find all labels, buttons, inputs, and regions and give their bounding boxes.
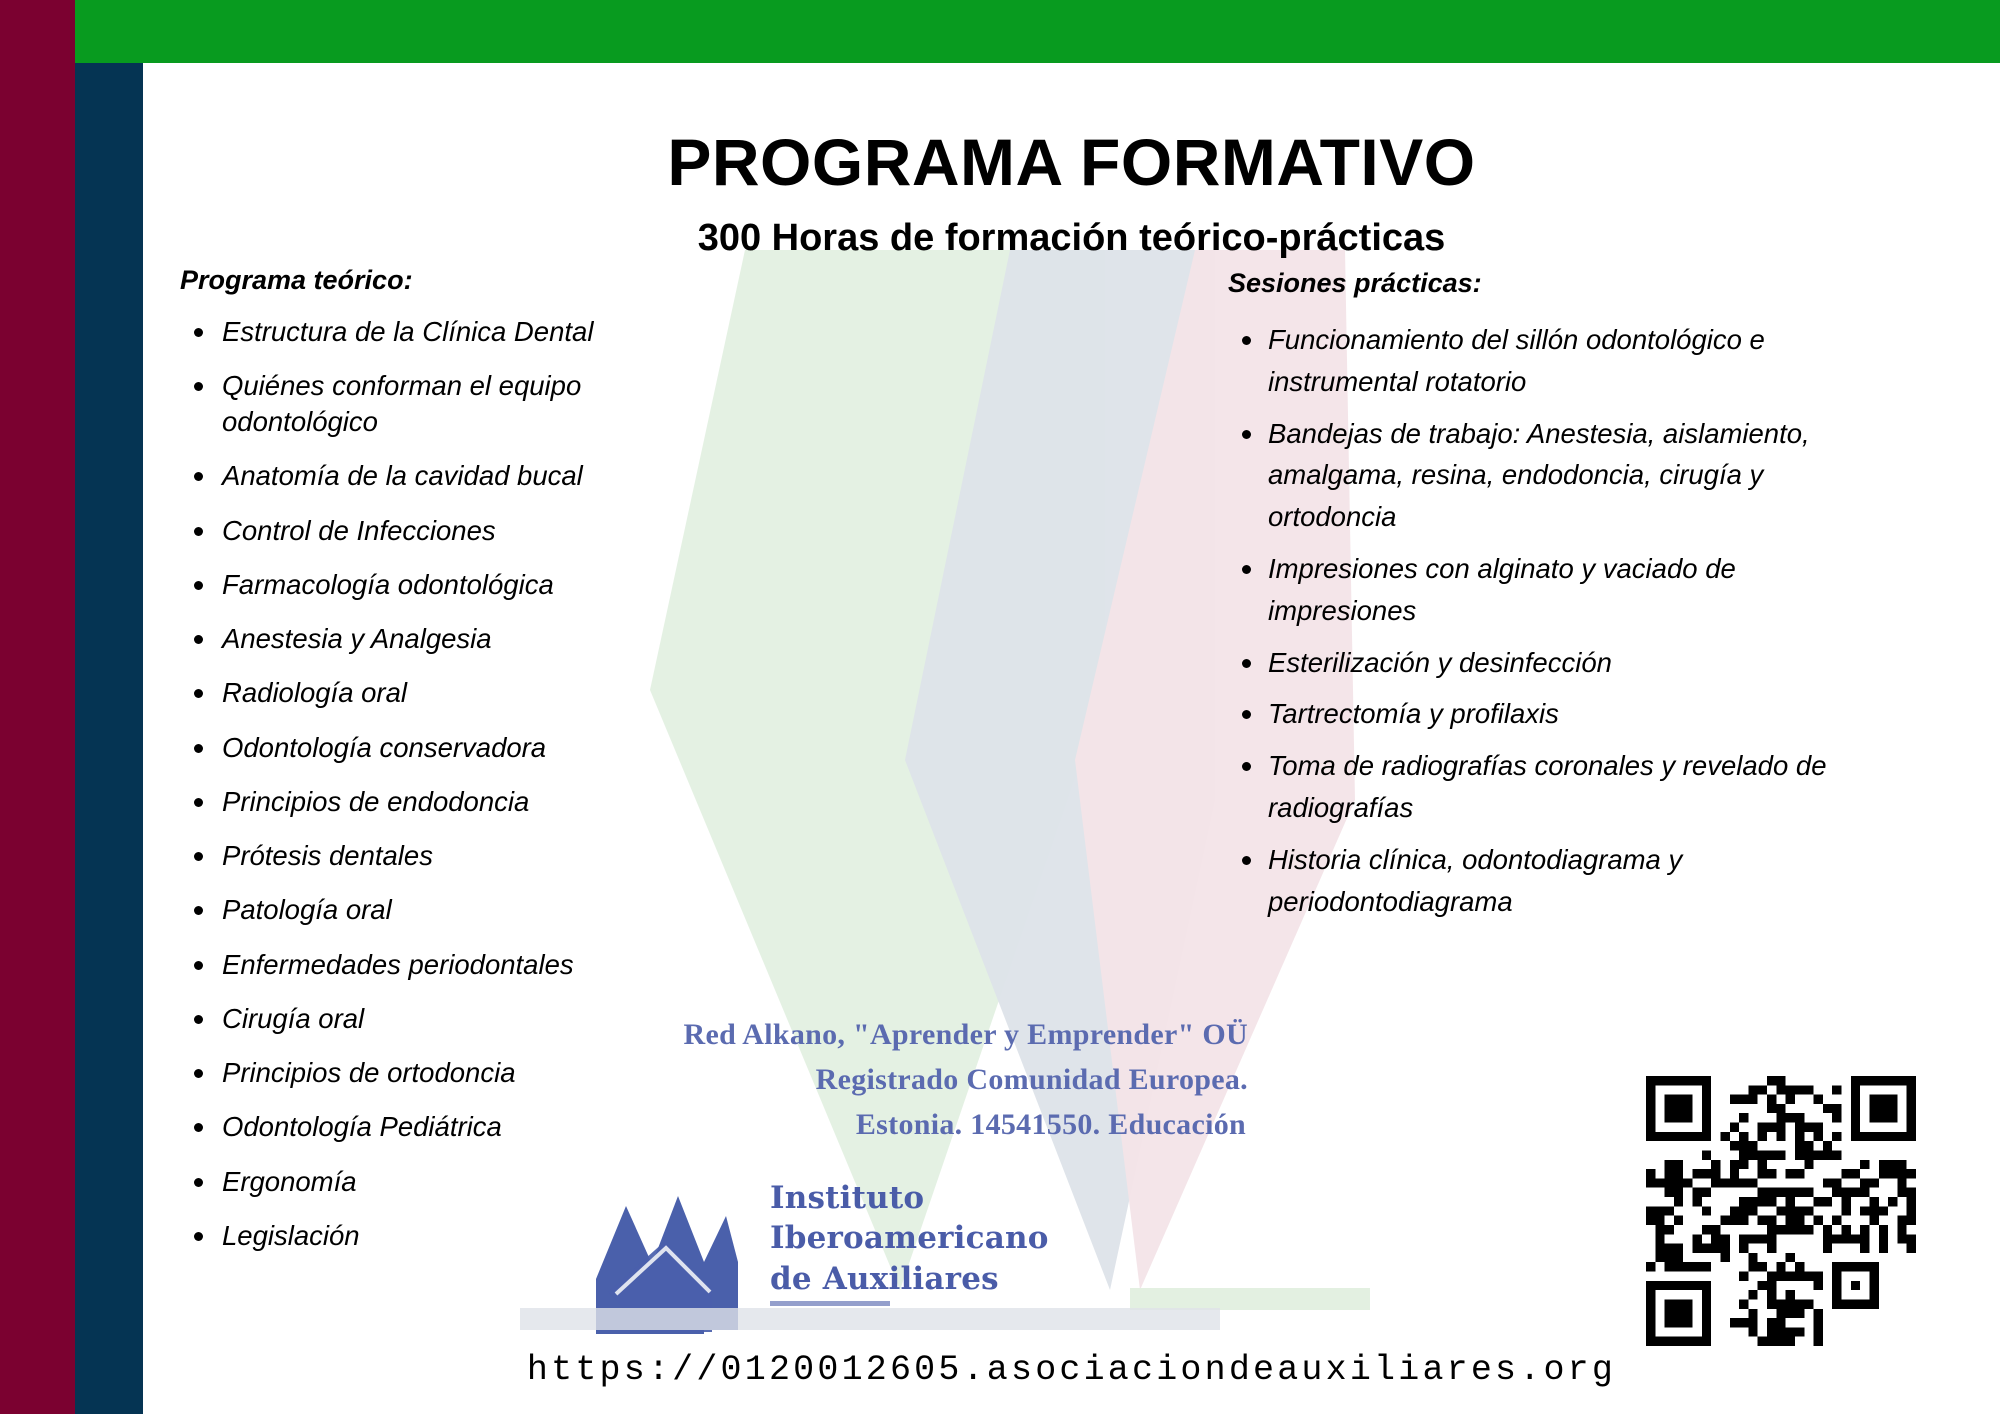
list-item: Estructura de la Clínica Dental: [180, 314, 740, 350]
qr-code-image: [1646, 1076, 1916, 1346]
list-item: Farmacología odontológica: [180, 567, 740, 603]
list-item: Odontología conservadora: [180, 730, 740, 766]
list-item: Historia clínica, odontodiagrama y perio…: [1228, 839, 1868, 923]
list-item: Quiénes conforman el equipo odontológico: [180, 368, 740, 440]
list-item: Patología oral: [180, 892, 740, 928]
practice-column-heading: Sesiones prácticas:: [1228, 268, 1868, 299]
theory-column-heading: Programa teórico:: [180, 265, 740, 296]
practice-column: Sesiones prácticas: Funcionamiento del s…: [1228, 268, 1868, 932]
list-item: Bandejas de trabajo: Anestesia, aislamie…: [1228, 413, 1868, 538]
list-item: Radiología oral: [180, 675, 740, 711]
list-item: Anestesia y Analgesia: [180, 621, 740, 657]
website-url[interactable]: https://0120012605.asociaciondeauxiliare…: [143, 1350, 2000, 1390]
list-item: Enfermedades periodontales: [180, 947, 740, 983]
logo-registration-line: Registrado Comunidad Europea.: [816, 1063, 1248, 1097]
page-subtitle: 300 Horas de formación teórico-prácticas: [143, 218, 2000, 260]
practice-list: Funcionamiento del sillón odontológico e…: [1228, 319, 1868, 922]
logo-underline-rule: [770, 1301, 890, 1306]
crown-logo-icon: [586, 1144, 746, 1334]
list-item: Anatomía de la cavidad bucal: [180, 458, 740, 494]
poster-canvas: PROGRAMA FORMATIVO 300 Horas de formació…: [0, 0, 2000, 1414]
organization-logo-block: Red Alkano, "Aprender y Emprender" OÜ Re…: [600, 1018, 1250, 1328]
institute-name-line2: Iberoamericano: [770, 1218, 1049, 1258]
institute-name-line3: de Auxiliares: [770, 1259, 1049, 1299]
list-item: Funcionamiento del sillón odontológico e…: [1228, 319, 1868, 403]
topbar-accent-green: [75, 0, 2000, 63]
list-item: Esterilización y desinfección: [1228, 642, 1868, 684]
sidebar-accent-navy: [75, 63, 143, 1414]
list-item: Impresiones con alginato y vaciado de im…: [1228, 548, 1868, 632]
list-item: Tartrectomía y profilaxis: [1228, 693, 1868, 735]
list-item: Toma de radiografías coronales y revelad…: [1228, 745, 1868, 829]
qr-code[interactable]: [1646, 1076, 1916, 1346]
logo-entity-name: Red Alkano, "Aprender y Emprender" OÜ: [684, 1018, 1248, 1052]
institute-name-line1: Instituto: [770, 1178, 1049, 1218]
list-item: Control de Infecciones: [180, 513, 740, 549]
list-item: Principios de endodoncia: [180, 784, 740, 820]
logo-baseline-strip: [520, 1308, 1220, 1330]
logo-country-registry-line: Estonia. 14541550. Educación: [856, 1108, 1246, 1142]
list-item: Prótesis dentales: [180, 838, 740, 874]
page-title: PROGRAMA FORMATIVO: [143, 128, 2000, 197]
sidebar-accent-maroon: [0, 0, 75, 1414]
institute-name: Instituto Iberoamericano de Auxiliares: [770, 1178, 1049, 1299]
